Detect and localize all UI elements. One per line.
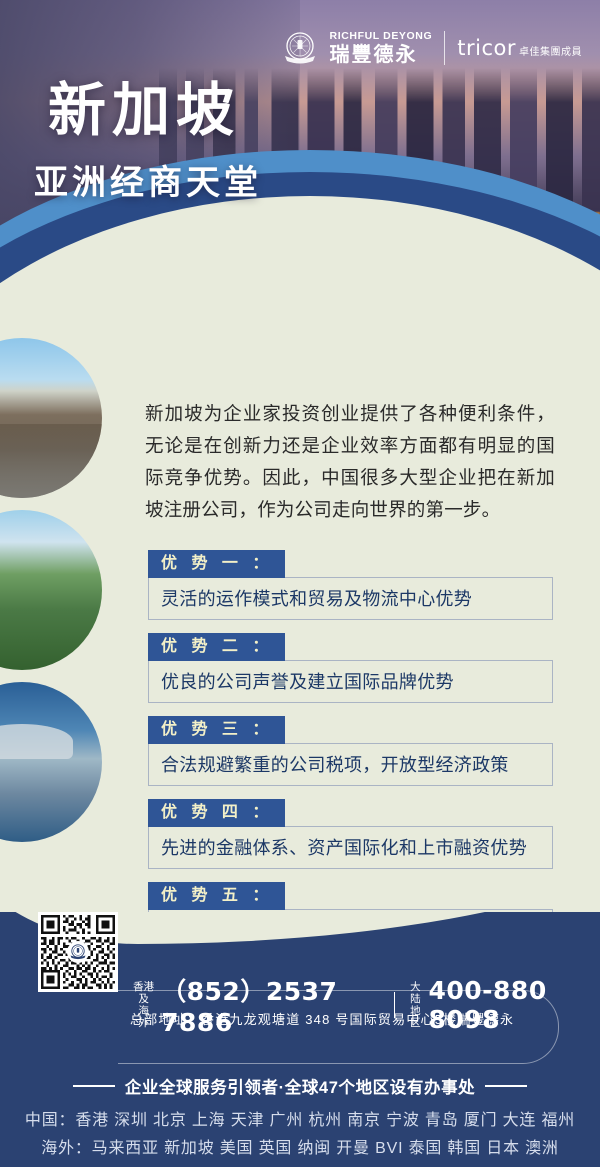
advantage-item: 优 势 四 ： 先进的金融体系、资产国际化和上市融资优势 xyxy=(148,799,553,869)
advantage-description: 合法规避繁重的公司税项，开放型经济政策 xyxy=(148,743,553,786)
advantage-tab-label: 优 势 一 ： xyxy=(148,550,285,578)
richful-deyong-crest-icon xyxy=(280,28,320,68)
page-title: 新加坡 xyxy=(48,82,240,140)
advantage-description: 先进的金融体系、资产国际化和上市融资优势 xyxy=(148,826,553,869)
brand-name-chinese: 瑞豐德永 xyxy=(330,45,433,65)
main-content: 新加坡为企业家投资创业提供了各种便利条件，无论是在创新力还是企业效率方面都有明显… xyxy=(0,300,600,940)
advantage-item: 优 势 一 ： 灵活的运作模式和贸易及物流中心优势 xyxy=(148,550,553,620)
qr-code-icon[interactable] xyxy=(38,912,118,992)
company-slogan: 企业全球服务引领者·全球47个地区设有办事处 xyxy=(125,1074,476,1098)
slogan-rule-left xyxy=(73,1085,115,1087)
footer-panel: 香港及 海 外 （852）2537 7886 大陆 地区 400-880 809… xyxy=(0,912,600,1167)
advantage-item: 优 势 三 ： 合法规避繁重的公司税项，开放型经济政策 xyxy=(148,716,553,786)
intro-paragraph: 新加坡为企业家投资创业提供了各种便利条件，无论是在创新力还是企业效率方面都有明显… xyxy=(145,398,555,526)
brand-name-block: RICHFUL DEYONG 瑞豐德永 xyxy=(330,31,433,65)
advantage-tab-label: 优 势 四 ： xyxy=(148,799,285,827)
advantage-description: 灵活的运作模式和贸易及物流中心优势 xyxy=(148,577,553,620)
logo-divider xyxy=(444,31,445,65)
advantage-list: 优 势 一 ： 灵活的运作模式和贸易及物流中心优势 优 势 二 ： 优良的公司声… xyxy=(148,550,553,952)
advantage-tab-label: 优 势 五 ： xyxy=(148,882,285,910)
partner-brand-chinese: 卓佳集團成員 xyxy=(519,47,582,58)
advantage-description: 优良的公司声誉及建立国际品牌优势 xyxy=(148,660,553,703)
advantage-tab-label: 优 势 二 ： xyxy=(148,633,285,661)
headquarters-address: 总部地址：香港九龙观塘道 348 号国际贸易中心5楼瑞豐德永 xyxy=(130,1009,514,1028)
slogan-row: 企业全球服务引领者·全球47个地区设有办事处 xyxy=(0,1074,600,1098)
poster-root: RICHFUL DEYONG 瑞豐德永 tricor卓佳集團成員 新加坡 亚洲经… xyxy=(0,0,600,1167)
regions-china: 中国：香港 深圳 北京 上海 天津 广州 杭州 南京 宁波 青岛 厦门 大连 福… xyxy=(0,1106,600,1130)
advantage-tab-label: 优 势 三 ： xyxy=(148,716,285,744)
partner-brand-name: tricor xyxy=(457,36,516,60)
page-subtitle: 亚洲经商天堂 xyxy=(34,166,262,200)
regions-overseas: 海外：马来西亚 新加坡 美国 英国 纳闽 开曼 BVI 泰国 韩国 日本 澳洲 xyxy=(0,1134,600,1158)
slogan-rule-right xyxy=(485,1085,527,1087)
richful-deyong-crest-icon xyxy=(67,941,89,963)
brand-name-english: RICHFUL DEYONG xyxy=(330,31,433,42)
advantage-item: 优 势 二 ： 优良的公司声誉及建立国际品牌优势 xyxy=(148,633,553,703)
partner-brand-block: tricor卓佳集團成員 xyxy=(457,36,582,60)
brand-logo-bar: RICHFUL DEYONG 瑞豐德永 tricor卓佳集團成員 xyxy=(280,28,582,68)
